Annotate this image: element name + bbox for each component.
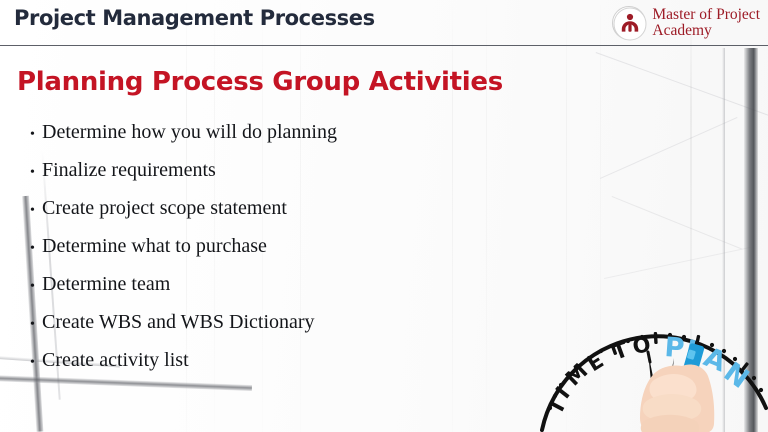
list-item-label: Determine how you will do planning — [42, 121, 337, 144]
list-item: • Finalize requirements — [30, 159, 550, 197]
list-item-label: Finalize requirements — [42, 159, 216, 182]
person-figure-circle-logo-icon — [612, 6, 646, 40]
presentation-slide: T I M E T O P L A N — [0, 0, 768, 432]
header-divider — [0, 45, 768, 46]
bullet-dot-icon: • — [30, 280, 42, 294]
activities-bullet-list: • Determine how you will do planning • F… — [30, 121, 550, 387]
page-title: Project Management Processes — [14, 6, 375, 30]
brand-logo[interactable]: Master of Project Academy — [612, 6, 760, 40]
list-item-label: Determine what to purchase — [42, 235, 267, 258]
list-item-label: Create activity list — [42, 349, 189, 372]
slide-heading: Planning Process Group Activities — [17, 67, 503, 97]
brand-logo-line-1: Master of Project — [652, 7, 760, 23]
list-item-label: Create project scope statement — [42, 197, 287, 220]
bullet-dot-icon: • — [30, 204, 42, 218]
list-item: • Create WBS and WBS Dictionary — [30, 311, 550, 349]
bullet-dot-icon: • — [30, 242, 42, 256]
slide-header: Project Management Processes Master of P… — [0, 0, 768, 47]
bullet-dot-icon: • — [30, 128, 42, 142]
list-item: • Determine what to purchase — [30, 235, 550, 273]
list-item: • Determine team — [30, 273, 550, 311]
bullet-dot-icon: • — [30, 318, 42, 332]
brand-logo-line-2: Academy — [652, 23, 760, 39]
list-item-label: Create WBS and WBS Dictionary — [42, 311, 315, 334]
bullet-dot-icon: • — [30, 356, 42, 370]
list-item-label: Determine team — [42, 273, 170, 296]
list-item: • Create activity list — [30, 349, 550, 387]
list-item: • Determine how you will do planning — [30, 121, 550, 159]
slide-content: Planning Process Group Activities • Dete… — [0, 47, 768, 432]
bullet-dot-icon: • — [30, 166, 42, 180]
list-item: • Create project scope statement — [30, 197, 550, 235]
brand-logo-text: Master of Project Academy — [652, 7, 760, 39]
